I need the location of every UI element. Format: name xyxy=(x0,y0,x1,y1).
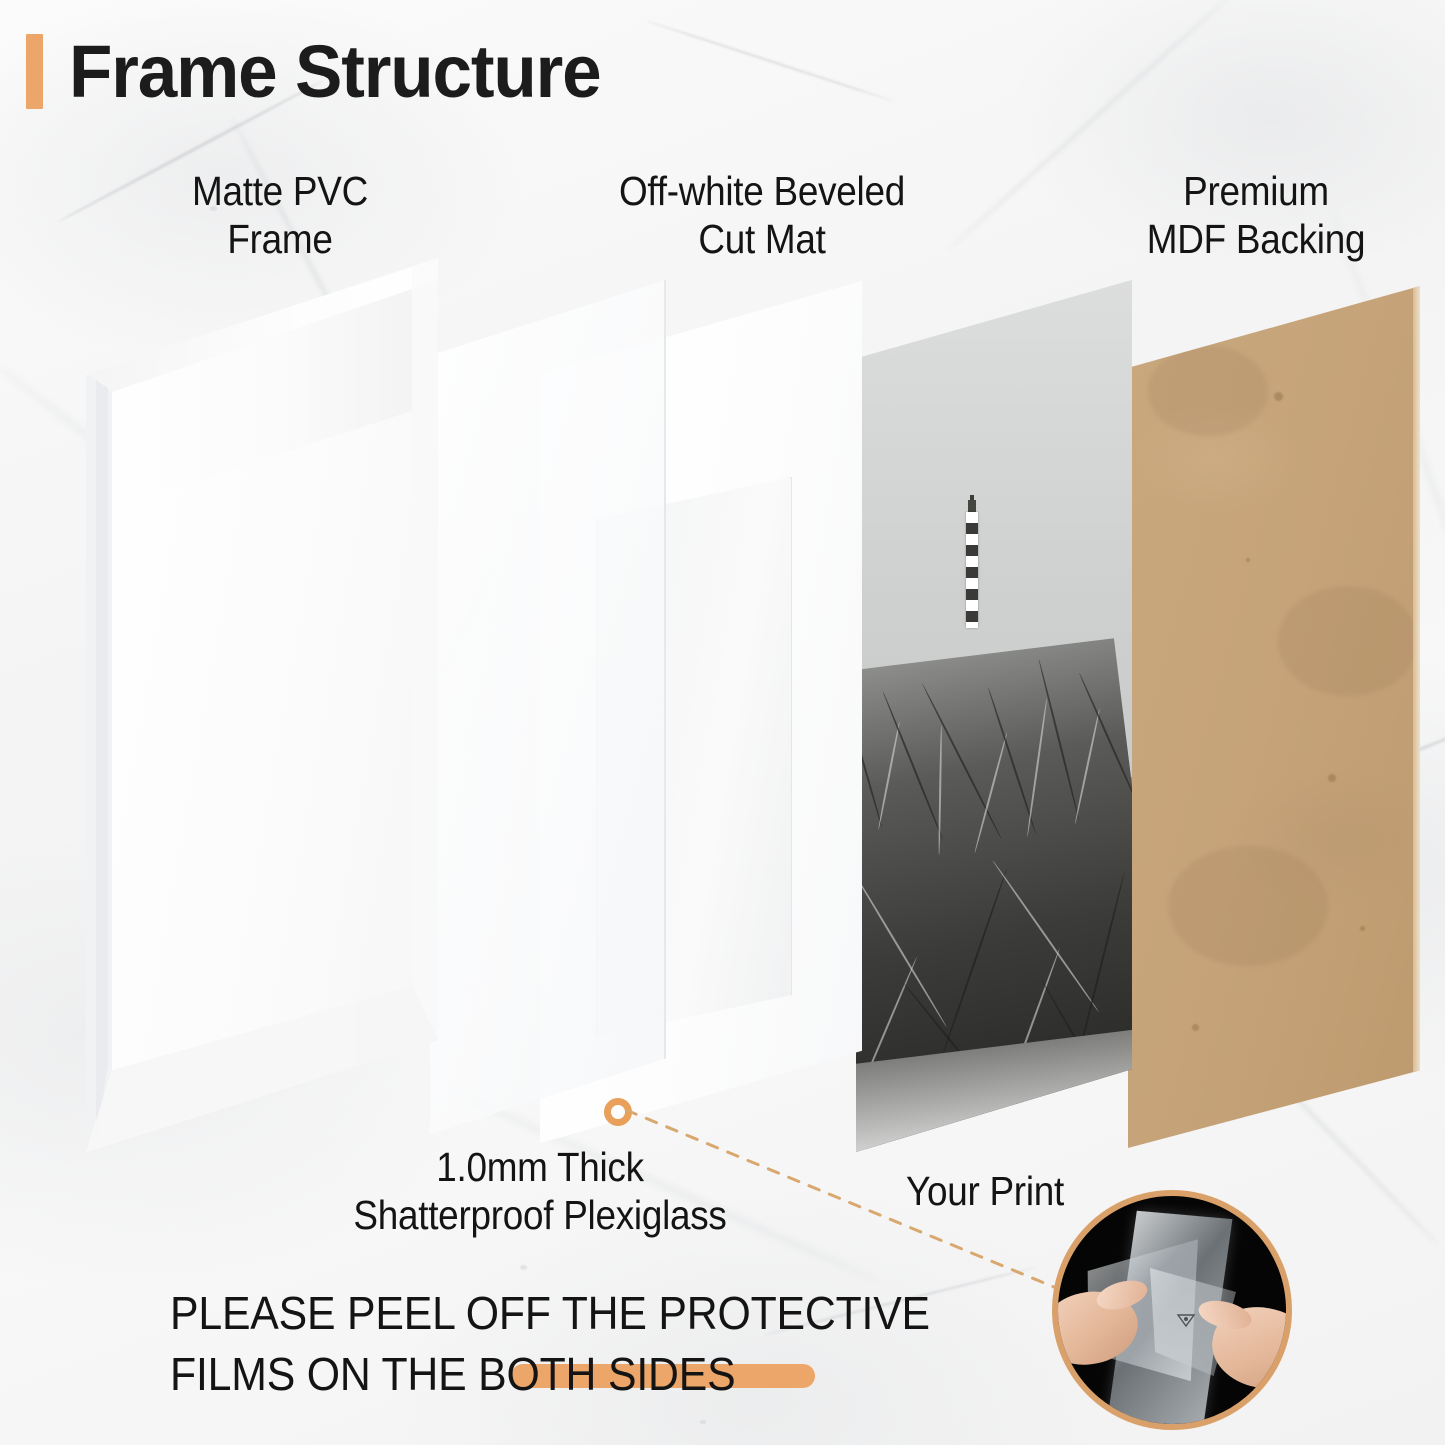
label-your-print: Your Print xyxy=(873,1168,1098,1216)
lighthouse-icon xyxy=(964,498,980,628)
peel-notice-line1: PLEASE PEEL OFF THE PROTECTIVE xyxy=(170,1283,988,1344)
label-mdf-backing: Premium MDF Backing xyxy=(1112,168,1400,263)
mdf-knot xyxy=(1274,392,1283,401)
peel-notice: PLEASE PEEL OFF THE PROTECTIVE FILMS ON … xyxy=(170,1283,988,1404)
frame-profile xyxy=(86,258,438,1152)
layer-mdf-backing xyxy=(1128,286,1420,1148)
label-cut-mat: Off-white Beveled Cut Mat xyxy=(591,168,933,263)
mdf-edge-highlight xyxy=(1413,286,1420,1148)
label-matte-pvc-frame: Matte PVC Frame xyxy=(145,168,415,263)
layer-print-photo xyxy=(856,280,1132,1152)
marble-background: Frame Structure xyxy=(0,0,1445,1445)
plexiglass-callout-marker xyxy=(604,1098,632,1126)
peel-notice-line2: FILMS ON THE BOTH SIDES xyxy=(170,1344,988,1405)
layer-plexiglass xyxy=(430,262,666,1152)
protective-film-photo-inset xyxy=(1052,1190,1292,1430)
label-plexiglass: 1.0mm Thick Shatterproof Plexiglass xyxy=(279,1144,801,1239)
mdf-knot xyxy=(1192,1024,1199,1031)
mdf-knot xyxy=(1328,774,1336,782)
film-logo-icon xyxy=(1176,1312,1196,1328)
layer-pvc-frame xyxy=(86,258,438,1152)
